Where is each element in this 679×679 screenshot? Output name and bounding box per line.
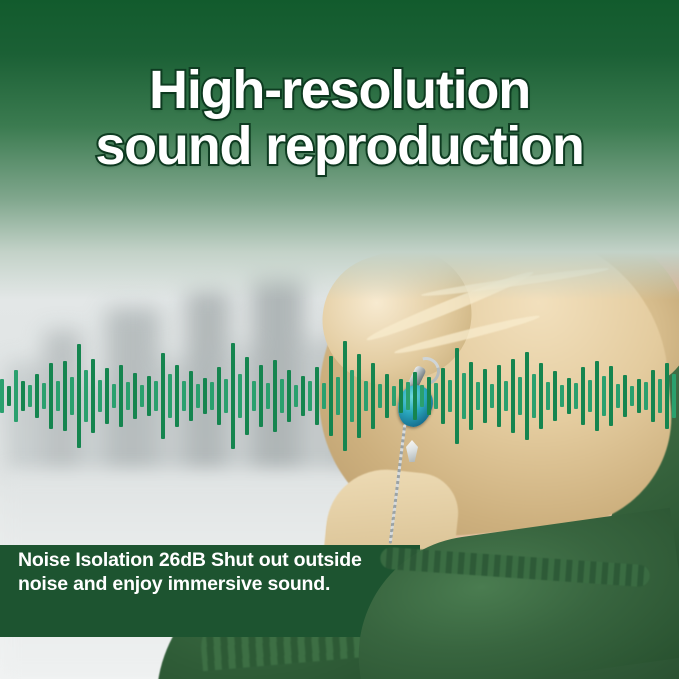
waveform-bar [518, 377, 522, 415]
waveform-bar [315, 367, 319, 425]
waveform-bar [623, 375, 627, 417]
waveform-bar [231, 343, 235, 449]
waveform-bar [609, 366, 613, 426]
waveform-bar [28, 385, 32, 407]
waveform-bar [567, 378, 571, 414]
waveform-bar [560, 385, 564, 407]
waveform-bar [203, 378, 207, 414]
waveform-bar [665, 363, 669, 429]
waveform-bar [595, 361, 599, 431]
waveform-bar [21, 381, 25, 411]
waveform-bar [301, 376, 305, 416]
waveform-bar [427, 377, 431, 415]
waveform-bar [224, 379, 228, 413]
waveform-bar [133, 373, 137, 419]
waveform-bar [539, 363, 543, 429]
waveform-bar [252, 381, 256, 411]
waveform-bar [469, 362, 473, 430]
waveform-bar [616, 384, 620, 408]
waveform-bar [651, 370, 655, 422]
waveform-bar [490, 384, 494, 408]
waveform-bar [210, 382, 214, 410]
waveform-bar [581, 367, 585, 425]
headline-line-2: sound reproduction [0, 118, 679, 174]
waveform-bar [637, 379, 641, 413]
waveform-bar [343, 341, 347, 451]
page-title: High-resolution sound reproduction [0, 62, 679, 174]
waveform-bar [497, 365, 501, 427]
waveform-bar [630, 386, 634, 406]
waveform-bar [455, 348, 459, 444]
waveform-bar [140, 385, 144, 407]
waveform-bar [161, 353, 165, 439]
waveform-bar [329, 356, 333, 436]
waveform-bar [511, 359, 515, 433]
waveform-bar [273, 360, 277, 432]
waveform-bar [602, 376, 606, 416]
waveform-bar [91, 359, 95, 433]
waveform-bar [126, 382, 130, 410]
caption-text: Noise Isolation 26dB Shut out outside no… [18, 549, 368, 596]
waveform-bar [189, 371, 193, 421]
waveform-bar [434, 383, 438, 409]
waveform-bar [42, 383, 46, 409]
waveform-bar [532, 374, 536, 418]
waveform-bar [350, 370, 354, 422]
waveform-bar [322, 383, 326, 409]
waveform-bar [84, 370, 88, 422]
waveform-bar [308, 381, 312, 411]
waveform-bar [0, 379, 4, 413]
waveform-bar [588, 380, 592, 412]
waveform-bar [658, 379, 662, 413]
waveform-bar [280, 379, 284, 413]
waveform-bar [154, 381, 158, 411]
waveform-bar [196, 384, 200, 408]
waveform-bar [105, 368, 109, 424]
waveform-bar [336, 377, 340, 415]
waveform-bar [448, 380, 452, 412]
waveform-bar [217, 367, 221, 425]
waveform-bar [364, 381, 368, 411]
waveform-bar [77, 344, 81, 448]
waveform-bar [238, 374, 242, 418]
audio-waveform-icon [0, 330, 392, 462]
waveform-bar [476, 382, 480, 410]
waveform-bar [420, 385, 424, 407]
waveform-bar [504, 381, 508, 411]
waveform-bar [385, 374, 389, 418]
waveform-bar [483, 369, 487, 423]
waveform-bar [399, 379, 403, 413]
waveform-bar [392, 386, 396, 406]
waveform-bar [147, 376, 151, 416]
waveform-bar [672, 374, 676, 418]
waveform-bar [546, 382, 550, 410]
waveform-bar [644, 382, 648, 410]
waveform-bar [553, 371, 557, 421]
waveform-bar [266, 383, 270, 409]
waveform-bar [70, 377, 74, 415]
waveform-bar [287, 370, 291, 422]
waveform-bar [259, 365, 263, 427]
waveform-bar [441, 368, 445, 424]
waveform-bar [98, 380, 102, 412]
headline-line-1: High-resolution [149, 60, 530, 120]
waveform-bar [112, 384, 116, 408]
waveform-bar [63, 361, 67, 431]
waveform-bar [462, 373, 466, 419]
waveform-bar [413, 372, 417, 420]
waveform-bar [14, 370, 18, 422]
waveform-bar [294, 385, 298, 407]
waveform-bar [525, 352, 529, 440]
waveform-bar [168, 374, 172, 418]
waveform-bar [49, 363, 53, 429]
waveform-bar [175, 365, 179, 427]
waveform-bar [357, 354, 361, 438]
waveform-bar [378, 384, 382, 408]
waveform-bar [56, 381, 60, 411]
waveform-bar [7, 386, 11, 406]
product-banner: High-resolution sound reproduction Noise… [0, 0, 679, 679]
waveform-bar [119, 365, 123, 427]
waveform-bar [245, 357, 249, 435]
waveform-bar [182, 381, 186, 411]
waveform-bar [406, 382, 410, 410]
waveform-bar [35, 374, 39, 418]
waveform-bar [371, 363, 375, 429]
waveform-bar [574, 383, 578, 409]
